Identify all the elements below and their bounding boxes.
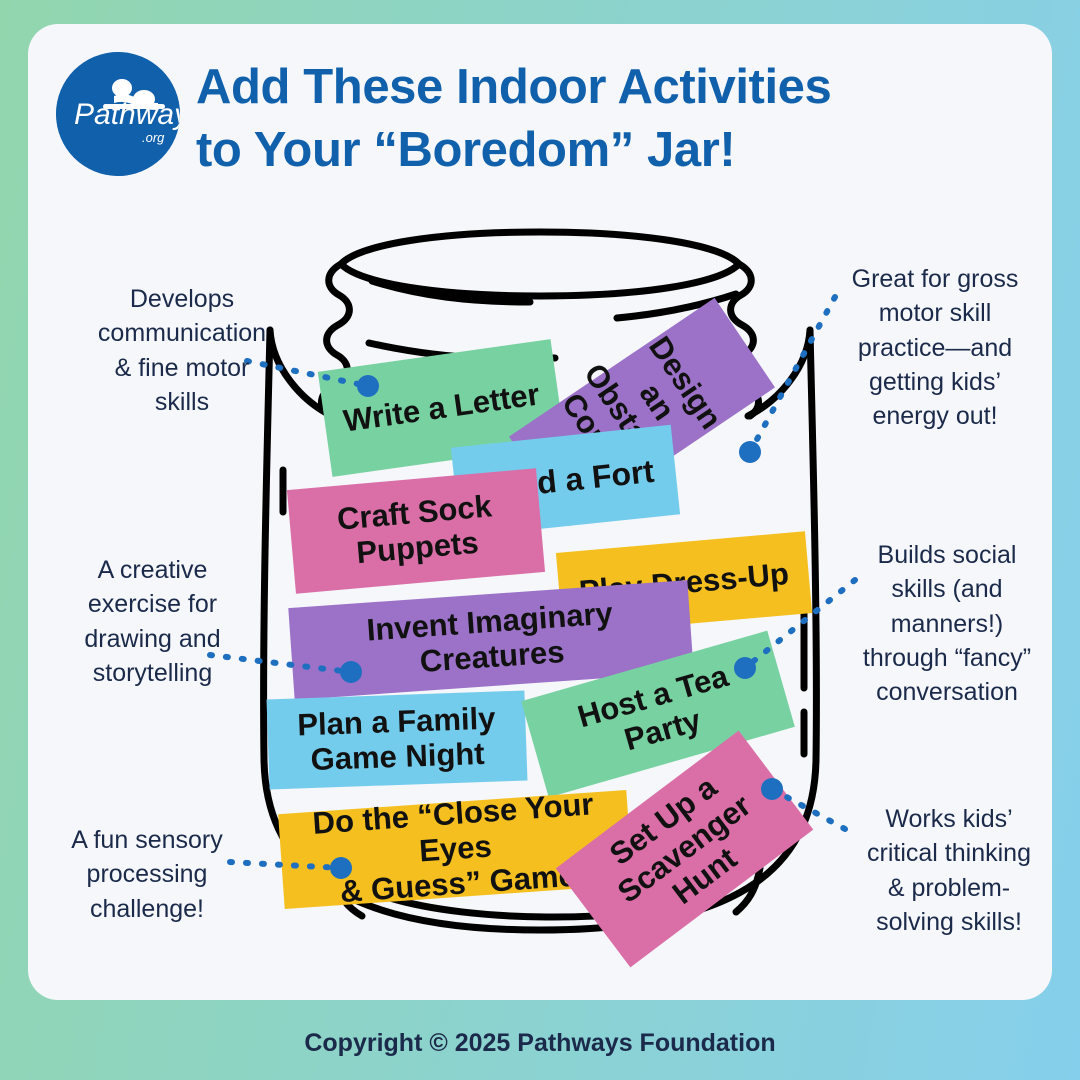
connector-tea-party xyxy=(745,580,855,668)
connector-dot xyxy=(330,857,352,879)
connector-dot xyxy=(739,441,761,463)
annotation-imaginary-creatures: A creativeexercise fordrawing andstoryte… xyxy=(55,553,250,690)
copyright-footer: Copyright © 2025 Pathways Foundation xyxy=(0,1029,1080,1058)
connector-dot xyxy=(761,778,783,800)
connector-dot xyxy=(734,657,756,679)
annotation-tea-party: Builds socialskills (andmanners!)through… xyxy=(858,538,1036,709)
connector-close-your-eyes xyxy=(230,862,341,868)
infographic-stage: Pathways .org Add These Indoor Activitie… xyxy=(0,0,1080,1080)
annotation-obstacle-course: Great for grossmotor skillpractice—andge… xyxy=(840,262,1030,433)
annotation-close-your-eyes: A fun sensoryprocessingchallenge! xyxy=(48,823,246,926)
connector-scavenger-hunt xyxy=(772,789,845,829)
annotation-scavenger-hunt: Works kids’critical thinking& problem-so… xyxy=(855,802,1043,939)
annotation-write-a-letter: Developscommunication& fine motorskills xyxy=(72,282,292,419)
connector-dot xyxy=(357,375,379,397)
connector-obstacle-course xyxy=(750,297,835,452)
connector-dot xyxy=(340,661,362,683)
